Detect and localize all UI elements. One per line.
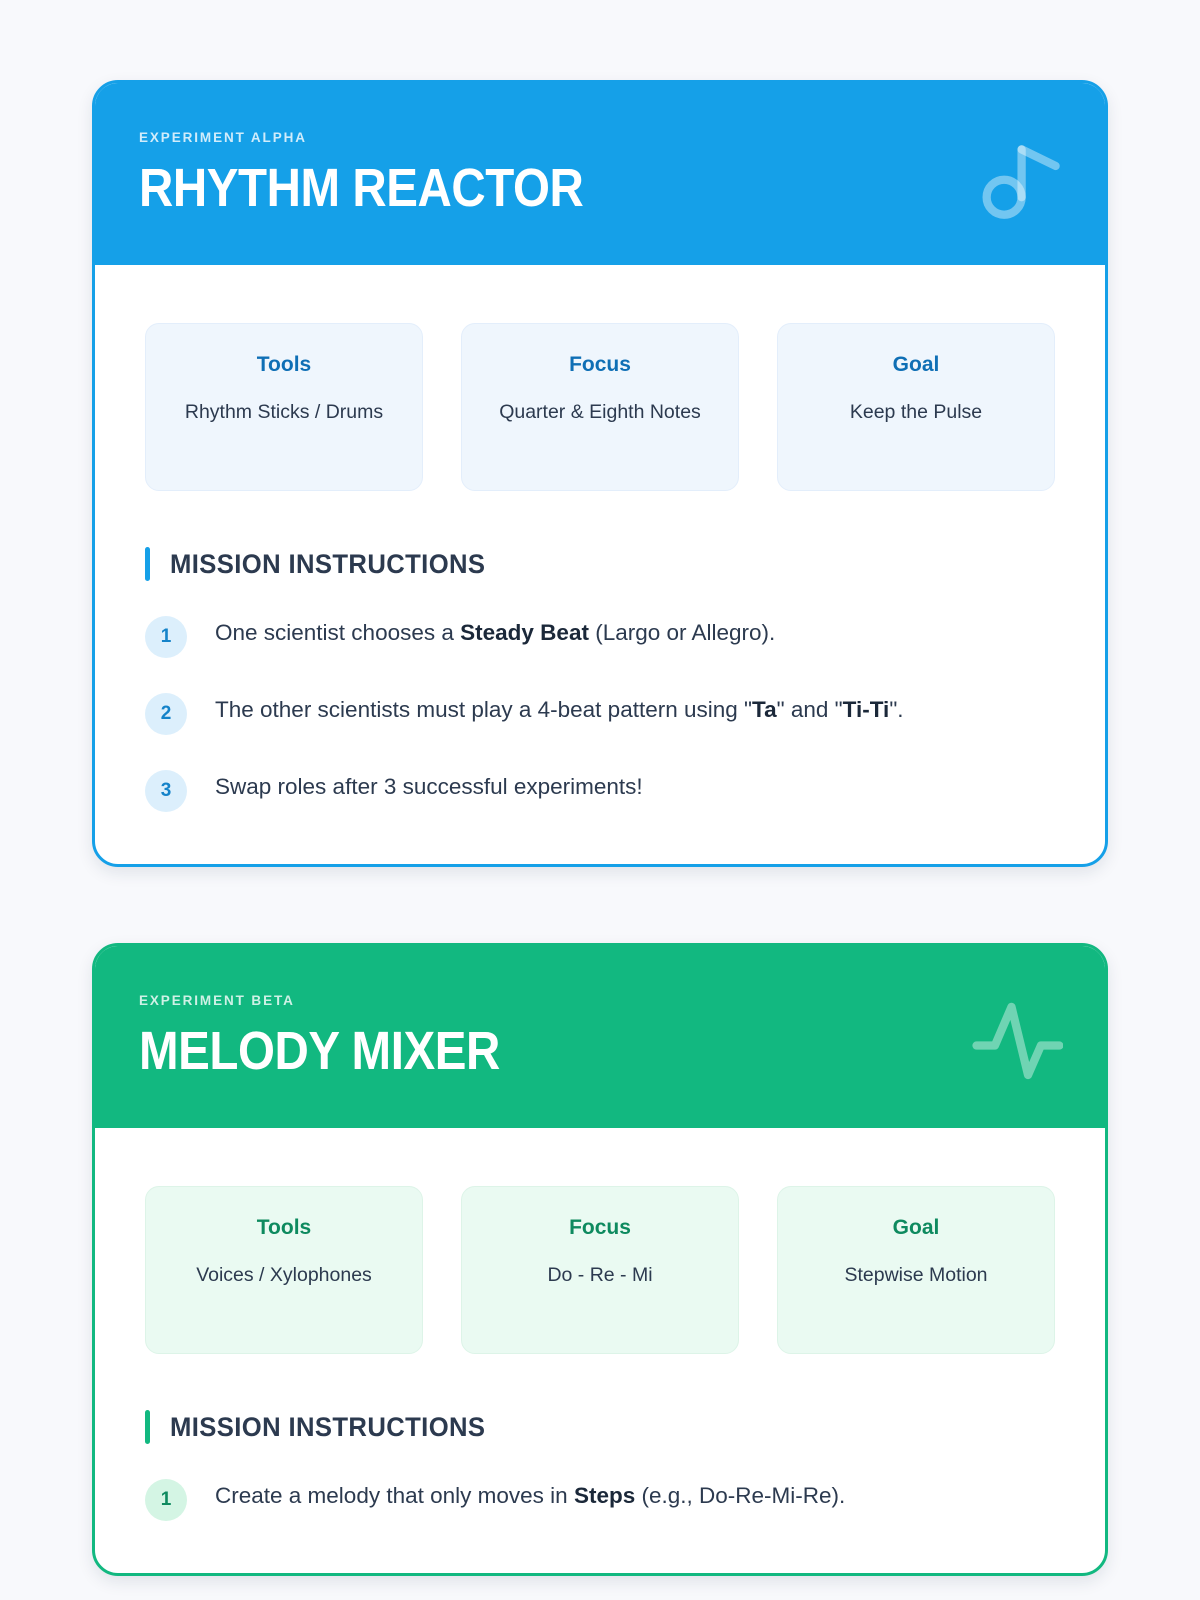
accent-bar [145,547,150,581]
step-text: One scientist chooses a Steady Beat (Lar… [215,615,775,651]
card-header-beta: EXPERIMENT BETA MELODY MIXER [95,946,1105,1128]
mission-instructions-heading: MISSION INSTRUCTIONS [145,1410,1055,1444]
instruction-list: 1 One scientist chooses a Steady Beat (L… [145,615,1055,812]
info-box-row: Tools Voices / Xylophones Focus Do - Re … [145,1186,1055,1354]
activity-worksheet-page: EXPERIMENT ALPHA RHYTHM REACTOR Tools Rh… [0,80,1200,1576]
card-header-alpha: EXPERIMENT ALPHA RHYTHM REACTOR [95,83,1105,265]
waveform-pulse-icon [971,994,1063,1086]
accent-bar [145,1410,150,1444]
music-note-icon [971,131,1063,223]
info-box-value: Rhythm Sticks / Drums [162,395,406,430]
experiment-card-alpha: EXPERIMENT ALPHA RHYTHM REACTOR Tools Rh… [92,80,1108,867]
info-box-value: Keep the Pulse [794,395,1038,430]
info-box-label: Focus [478,1215,722,1240]
step-number-badge: 2 [145,693,187,735]
info-box-value: Quarter & Eighth Notes [478,395,722,430]
section-title: MISSION INSTRUCTIONS [170,547,485,581]
step-number-badge: 3 [145,770,187,812]
list-item: 3 Swap roles after 3 successful experime… [145,769,1055,812]
step-number-badge: 1 [145,616,187,658]
card-eyebrow: EXPERIMENT BETA [139,994,1061,1008]
info-box-focus: Focus Do - Re - Mi [461,1186,739,1354]
info-box-tools: Tools Rhythm Sticks / Drums [145,323,423,491]
info-box-goal: Goal Stepwise Motion [777,1186,1055,1354]
list-item: 2 The other scientists must play a 4-bea… [145,692,1055,735]
step-text: Create a melody that only moves in Steps… [215,1478,845,1514]
info-box-goal: Goal Keep the Pulse [777,323,1055,491]
list-item: 1 Create a melody that only moves in Ste… [145,1478,1055,1521]
info-box-focus: Focus Quarter & Eighth Notes [461,323,739,491]
step-text: The other scientists must play a 4-beat … [215,692,904,728]
card-title: RHYTHM REACTOR [139,161,950,215]
step-text: Swap roles after 3 successful experiment… [215,769,643,805]
info-box-label: Tools [162,1215,406,1240]
info-box-row: Tools Rhythm Sticks / Drums Focus Quarte… [145,323,1055,491]
info-box-label: Goal [794,352,1038,377]
info-box-label: Tools [162,352,406,377]
mission-instructions-heading: MISSION INSTRUCTIONS [145,547,1055,581]
info-box-value: Do - Re - Mi [478,1258,722,1293]
info-box-label: Goal [794,1215,1038,1240]
step-number-badge: 1 [145,1479,187,1521]
info-box-label: Focus [478,352,722,377]
list-item: 1 One scientist chooses a Steady Beat (L… [145,615,1055,658]
info-box-value: Voices / Xylophones [162,1258,406,1293]
experiment-card-beta: EXPERIMENT BETA MELODY MIXER Tools Voice… [92,943,1108,1576]
section-title: MISSION INSTRUCTIONS [170,1410,485,1444]
instruction-list: 1 Create a melody that only moves in Ste… [145,1478,1055,1521]
card-body-beta: Tools Voices / Xylophones Focus Do - Re … [95,1128,1105,1573]
card-body-alpha: Tools Rhythm Sticks / Drums Focus Quarte… [95,265,1105,864]
card-title: MELODY MIXER [139,1024,950,1078]
card-eyebrow: EXPERIMENT ALPHA [139,131,1061,145]
info-box-tools: Tools Voices / Xylophones [145,1186,423,1354]
info-box-value: Stepwise Motion [794,1258,1038,1293]
